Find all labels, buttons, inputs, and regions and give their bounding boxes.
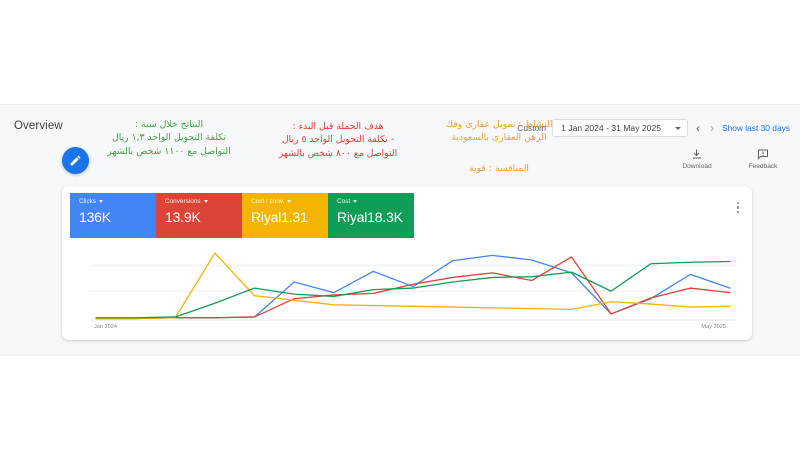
kpi-cost[interactable]: Cost Riyal18.3K bbox=[328, 193, 414, 238]
download-label: Download bbox=[682, 163, 711, 170]
chevron-down-icon bbox=[99, 200, 103, 203]
chevron-down-icon bbox=[675, 127, 681, 130]
feedback-button[interactable]: Feedback bbox=[742, 148, 784, 170]
date-range-value: 1 Jan 2024 - 31 May 2025 bbox=[561, 123, 661, 133]
chevron-down-icon bbox=[204, 200, 208, 203]
annotation-goal-red: هدف الحملة قبل البدء : - تكلفة التحويل ا… bbox=[254, 120, 422, 160]
kpi-conversions-label: Conversions bbox=[165, 198, 201, 205]
show-last-30-days-link[interactable]: Show last 30 days bbox=[722, 123, 790, 133]
chevron-left-icon[interactable]: ‹ bbox=[694, 122, 702, 134]
annotation-competition-orange: المنافسة : قوية bbox=[424, 162, 574, 175]
kpi-clicks[interactable]: Clicks 136K bbox=[70, 193, 156, 238]
chart-canvas bbox=[62, 238, 752, 338]
annotation-results-green: النتائج خلال سنة : تكلفة التحويل الواحد … bbox=[96, 118, 242, 158]
kpi-cost-per-conv-label: Cost / conv. bbox=[251, 198, 284, 205]
download-icon bbox=[691, 148, 703, 160]
tool-actions: Download Feedback bbox=[676, 148, 784, 170]
feedback-icon bbox=[757, 148, 769, 160]
date-range-select[interactable]: 1 Jan 2024 - 31 May 2025 bbox=[552, 119, 688, 137]
download-button[interactable]: Download bbox=[676, 148, 718, 170]
chevron-right-icon[interactable]: › bbox=[708, 122, 716, 134]
pencil-icon bbox=[69, 154, 82, 167]
chart-x-last-label: May 2025 bbox=[701, 324, 726, 330]
kpi-cost-per-conv[interactable]: Cost / conv. Riyal1.31 bbox=[242, 193, 328, 238]
date-custom-label: Custom bbox=[517, 123, 546, 133]
kpi-clicks-value: 136K bbox=[79, 209, 148, 225]
performance-chart: Jan 2024 May 2025 bbox=[62, 238, 752, 338]
feedback-label: Feedback bbox=[749, 163, 778, 170]
chevron-down-icon bbox=[287, 200, 291, 203]
kpi-clicks-label: Clicks bbox=[79, 198, 96, 205]
kpi-row: Clicks 136K Conversions 13.9K Cost / con… bbox=[70, 193, 414, 238]
chart-series-cost bbox=[96, 261, 730, 317]
screenshot-root: Overview النتائج خلال سنة : تكلفة التحوي… bbox=[0, 0, 800, 460]
kpi-cost-value: Riyal18.3K bbox=[337, 209, 406, 225]
overview-card: Clicks 136K Conversions 13.9K Cost / con… bbox=[62, 186, 752, 340]
kpi-conversions[interactable]: Conversions 13.9K bbox=[156, 193, 242, 238]
chart-x-first-label: Jan 2024 bbox=[94, 324, 117, 330]
date-controls: Custom 1 Jan 2024 - 31 May 2025 ‹ › Show… bbox=[517, 119, 790, 137]
chevron-down-icon bbox=[353, 200, 357, 203]
kpi-conversions-value: 13.9K bbox=[165, 209, 234, 225]
card-menu-button[interactable] bbox=[735, 200, 741, 215]
edit-fab-button[interactable] bbox=[62, 147, 89, 174]
kpi-cost-per-conv-value: Riyal1.31 bbox=[251, 209, 320, 225]
page-title: Overview bbox=[14, 120, 63, 132]
kpi-cost-label: Cost bbox=[337, 198, 350, 205]
